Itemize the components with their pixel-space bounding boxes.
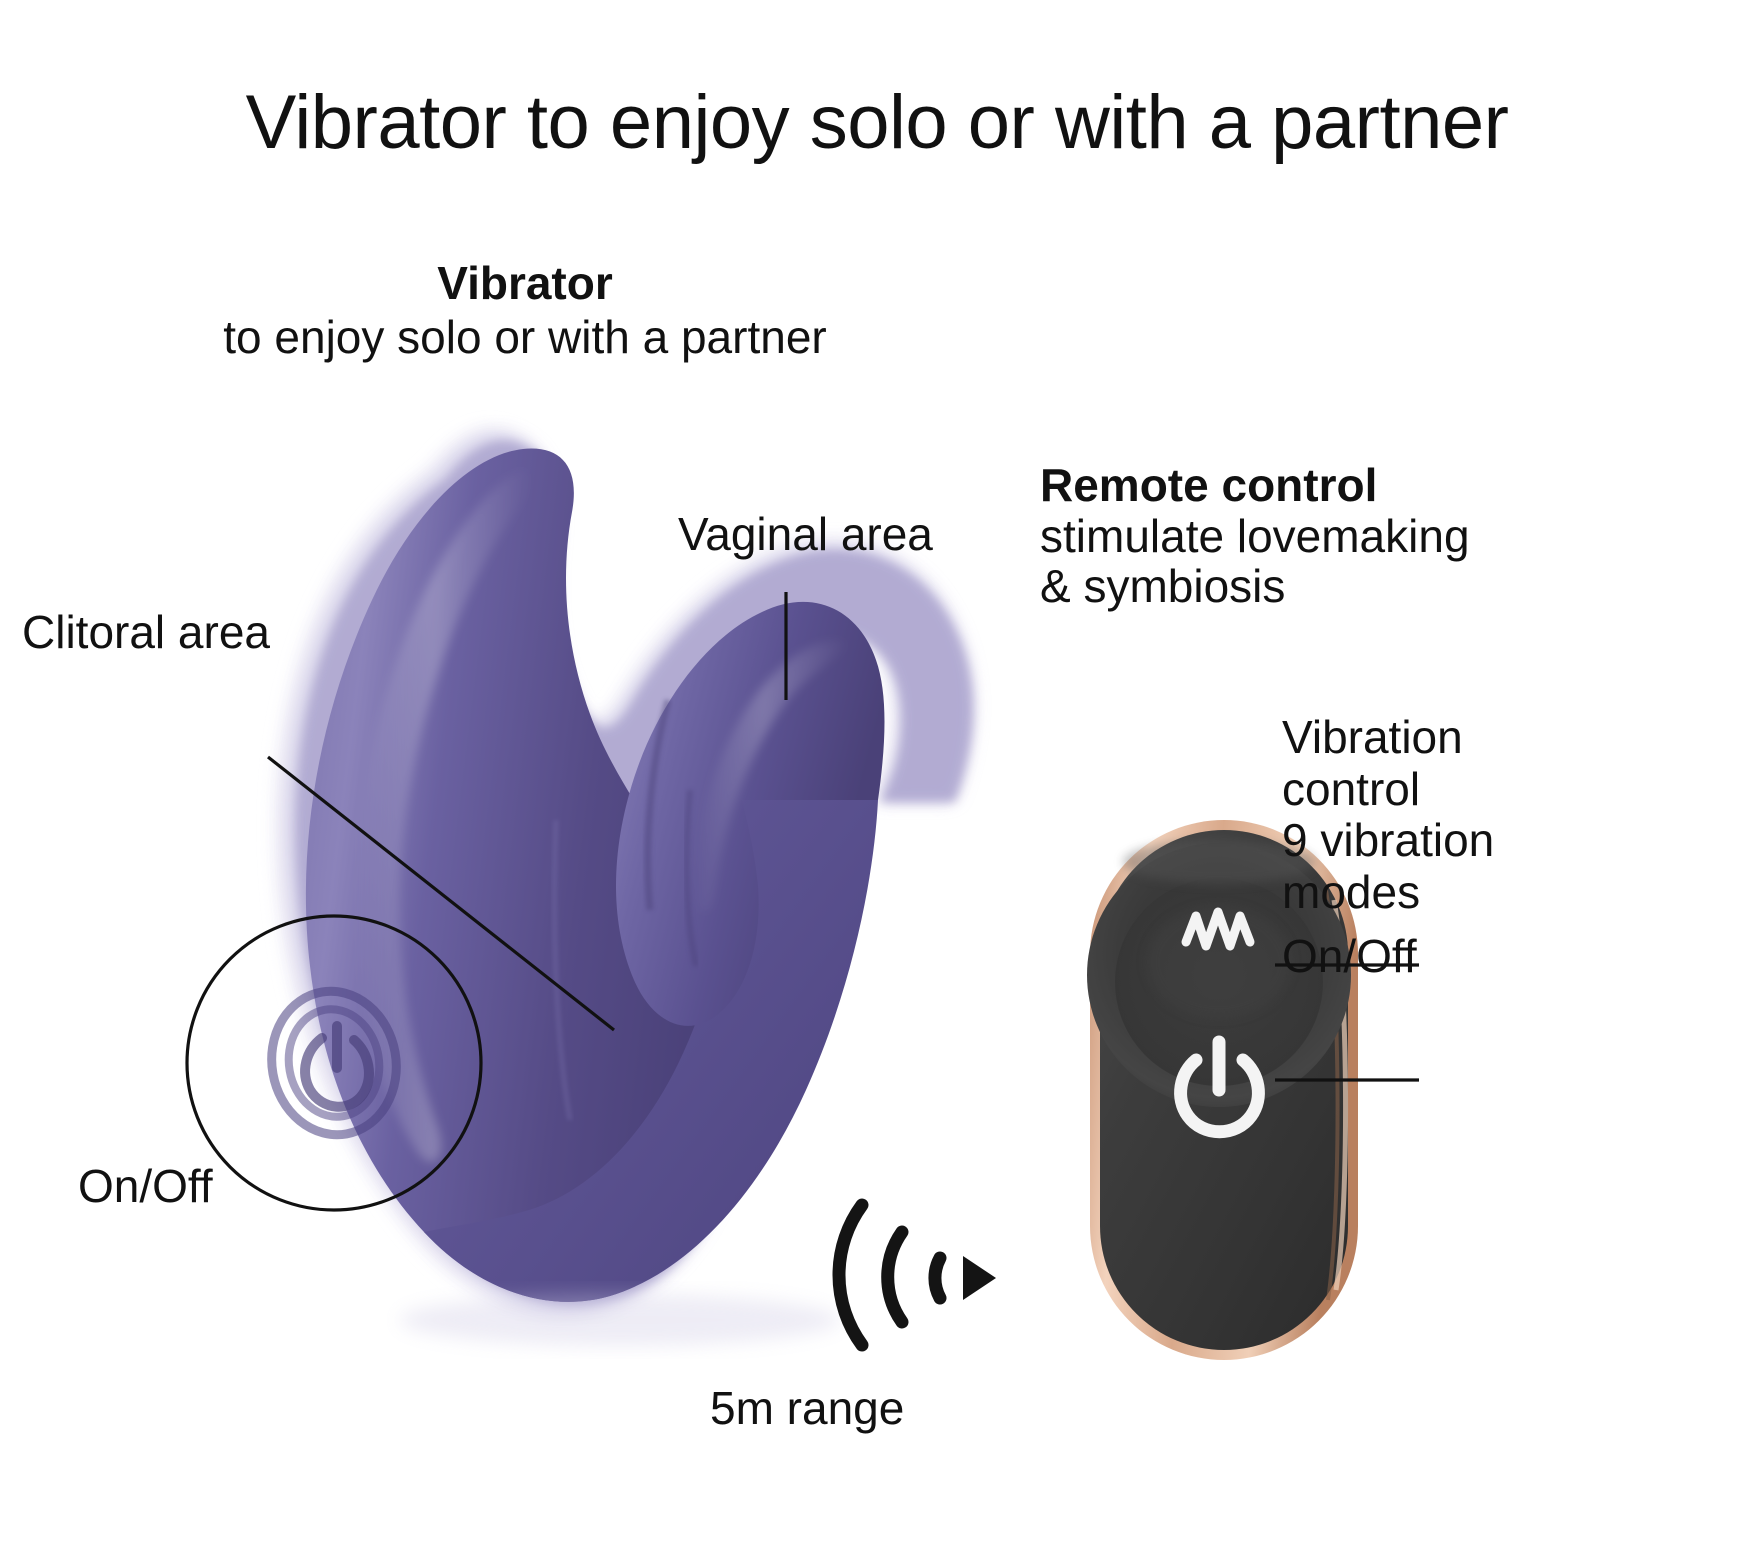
remote-control-line-2: & symbiosis bbox=[1040, 561, 1560, 612]
vibration-line-3: 9 vibration bbox=[1282, 815, 1732, 867]
label-range: 5m range bbox=[710, 1382, 904, 1434]
page-title: Vibrator to enjoy solo or with a partner bbox=[0, 81, 1754, 165]
label-clitoral-area: Clitoral area bbox=[22, 606, 270, 658]
label-on-off-remote: On/Off bbox=[1282, 930, 1417, 982]
remote-control-text-block: Remote control stimulate lovemaking & sy… bbox=[1040, 460, 1560, 612]
product-subtitle-block: Vibrator to enjoy solo or with a partner bbox=[175, 258, 875, 363]
vibration-control-text-block: Vibration control 9 vibration modes bbox=[1282, 712, 1732, 918]
product-subtitle-heading: Vibrator bbox=[175, 258, 875, 310]
vibration-line-1: Vibration bbox=[1282, 712, 1732, 764]
infographic-canvas: Vibrator to enjoy solo or with a partner… bbox=[0, 0, 1754, 1560]
label-on-off-vibrator: On/Off bbox=[78, 1160, 213, 1212]
remote-control-heading: Remote control bbox=[1040, 460, 1560, 511]
vibration-line-2: control bbox=[1282, 764, 1732, 816]
product-subtitle-description: to enjoy solo or with a partner bbox=[175, 312, 875, 364]
label-vaginal-area: Vaginal area bbox=[678, 508, 933, 560]
remote-control-line-1: stimulate lovemaking bbox=[1040, 511, 1560, 562]
wireless-signal-icon-art bbox=[839, 1205, 996, 1345]
vibration-line-4: modes bbox=[1282, 867, 1732, 919]
